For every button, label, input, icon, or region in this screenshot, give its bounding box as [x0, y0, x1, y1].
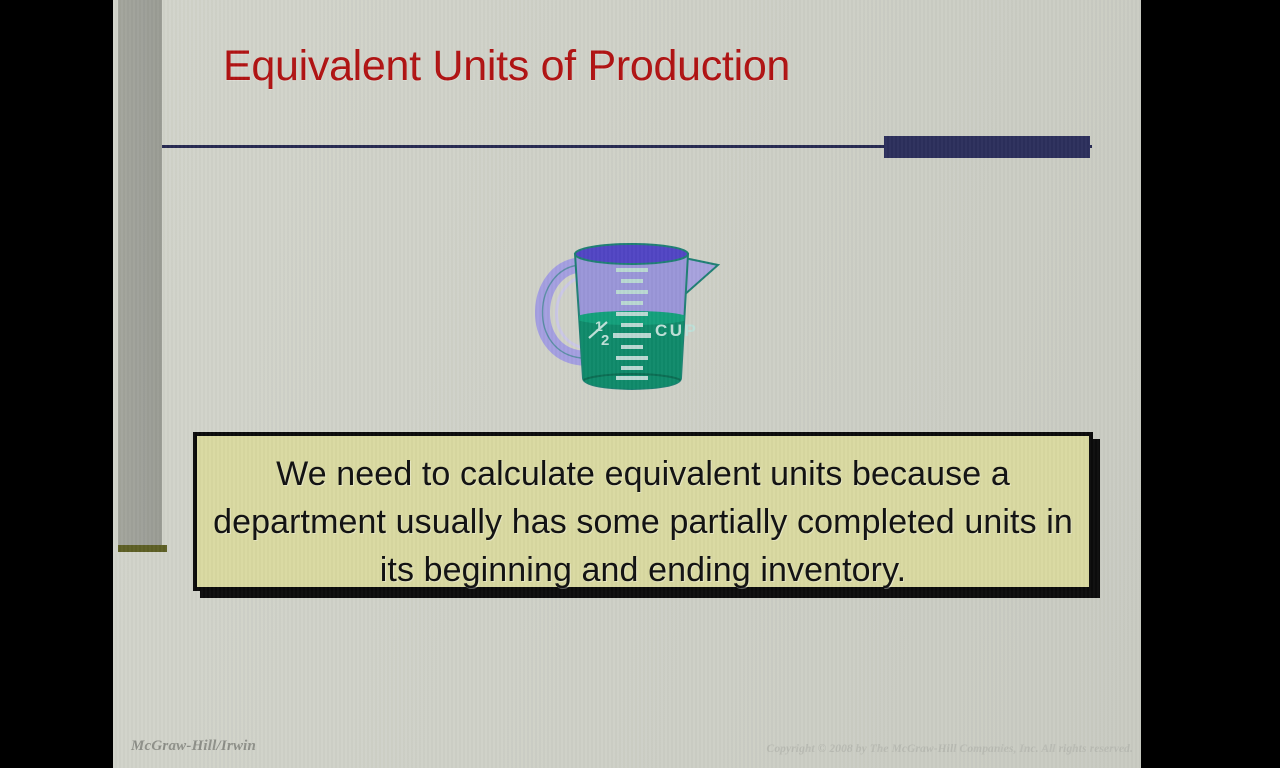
slide-title: Equivalent Units of Production [223, 44, 1083, 90]
left-decorative-bar [118, 0, 162, 551]
cup-unit-label: CUP [655, 321, 698, 340]
title-divider-accent-block [884, 136, 1090, 158]
left-decorative-bar-accent [118, 545, 167, 552]
screen: Equivalent Units of Production [0, 0, 1280, 768]
callout-text: We need to calculate equivalent units be… [213, 450, 1073, 594]
slide-canvas: Equivalent Units of Production [113, 0, 1141, 768]
measuring-cup-svg: 1 2 CUP [513, 232, 733, 400]
callout-box: We need to calculate equivalent units be… [193, 432, 1093, 591]
footer-copyright: Copyright © 2008 by The McGraw-Hill Comp… [767, 743, 1133, 755]
measuring-cup-illustration: 1 2 CUP [513, 232, 733, 400]
footer-publisher: McGraw-Hill/Irwin [131, 738, 256, 755]
cup-rim [575, 244, 688, 264]
cup-fraction-denominator: 2 [601, 332, 609, 349]
